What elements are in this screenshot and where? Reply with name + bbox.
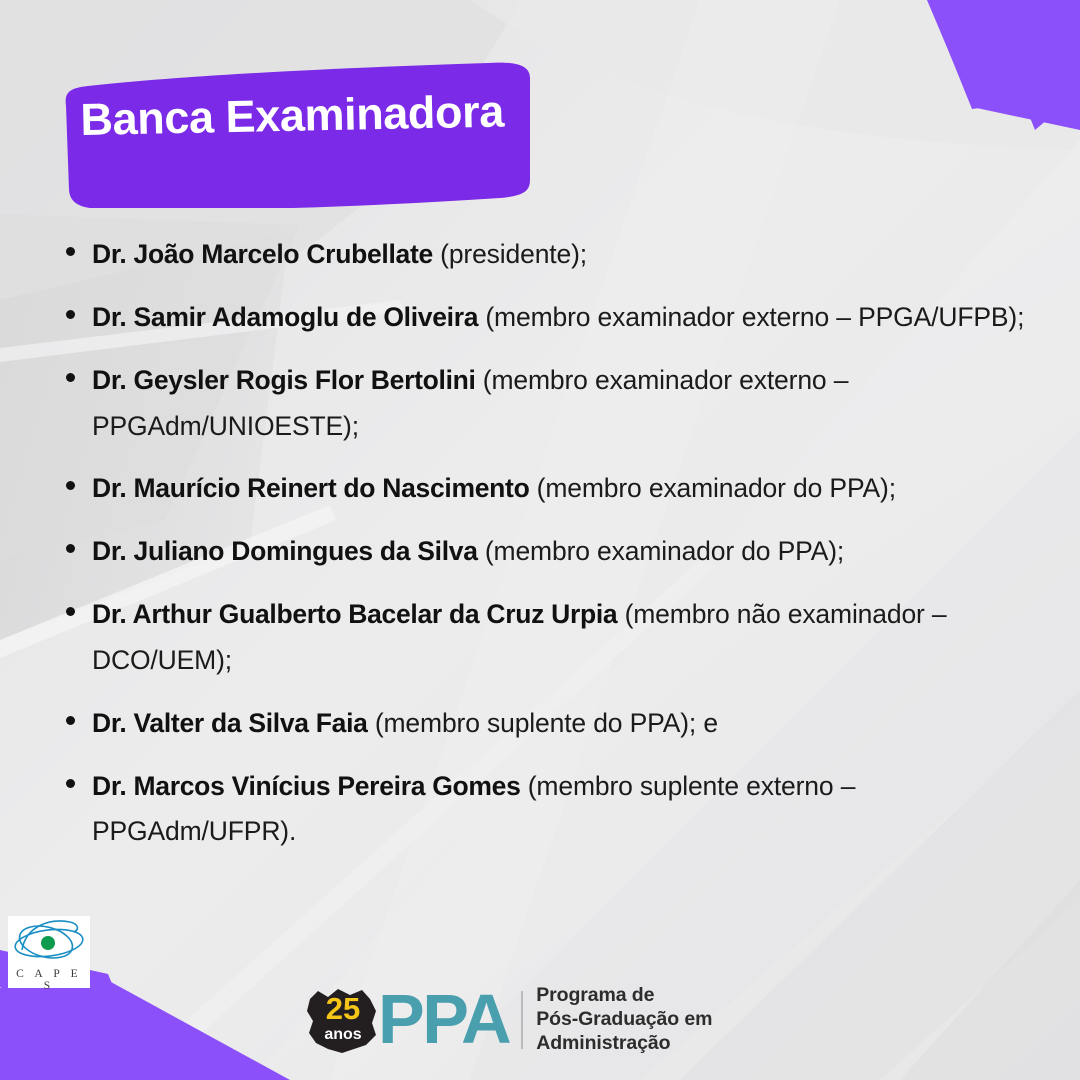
capes-logo: C A P E S [8,916,90,988]
list-item: Dr. Marcos Vinícius Pereira Gomes (membr… [66,764,1046,856]
list-item: Dr. Maurício Reinert do Nascimento (memb… [66,466,1046,512]
member-name: Dr. Marcos Vinícius Pereira Gomes [92,771,521,801]
member-name: Dr. Valter da Silva Faia [92,708,368,738]
list-item: Dr. Juliano Domingues da Silva (membro e… [66,529,1046,575]
bullet-icon [66,607,75,616]
list-item: Dr. Geysler Rogis Flor Bertolini (membro… [66,358,1046,450]
member-role: (membro examinador do PPA); [529,473,895,503]
ppa-subtitle: Programa de Pós-Graduação em Administraç… [536,984,712,1055]
bullet-icon [66,779,75,788]
capes-center-dot [41,936,55,950]
member-role: (membro examinador do PPA); [478,536,844,566]
ppa-subtitle-line-1: Programa de [536,984,712,1008]
list-item: Dr. Valter da Silva Faia (membro suplent… [66,701,1046,747]
member-role: (membro suplente do PPA); e [368,708,718,738]
member-name: Dr. Juliano Domingues da Silva [92,536,478,566]
ppa-logo: 25 anos PPA Programa de Pós-Graduação em… [302,980,712,1060]
member-entry: Dr. Maurício Reinert do Nascimento (memb… [92,466,1046,512]
member-entry: Dr. João Marcelo Crubellate (presidente)… [92,232,1046,278]
ppa-subtitle-line-2: Pós-Graduação em [536,1008,712,1032]
bullet-icon [66,481,75,490]
member-entry: Dr. Marcos Vinícius Pereira Gomes (membr… [92,764,1046,856]
member-entry: Dr. Juliano Domingues da Silva (membro e… [92,529,1046,575]
member-entry: Dr. Geysler Rogis Flor Bertolini (membro… [92,358,1046,450]
member-name: Dr. Samir Adamoglu de Oliveira [92,302,478,332]
svg-text:anos: anos [324,1026,361,1043]
member-role: (presidente); [433,239,587,269]
25-anos-badge-icon: 25 anos [302,983,384,1057]
list-item: Dr. João Marcelo Crubellate (presidente)… [66,232,1046,278]
bullet-icon [66,544,75,553]
bullet-icon [66,247,75,256]
member-entry: Dr. Samir Adamoglu de Oliveira (membro e… [92,295,1046,341]
title-banner: Banca Examinadora [48,62,534,208]
svg-text:25: 25 [326,991,360,1026]
bullet-icon [66,310,75,319]
poster-canvas: Banca Examinadora Dr. João Marcelo Crube… [0,0,1080,1080]
member-entry: Dr. Arthur Gualberto Bacelar da Cruz Urp… [92,592,1046,684]
ppa-divider [521,991,523,1049]
capes-wordmark: C A P E S [8,968,90,992]
member-name: Dr. Arthur Gualberto Bacelar da Cruz Urp… [92,599,617,629]
member-role: (membro examinador externo – PPGA/UFPB); [478,302,1024,332]
member-name: Dr. Maurício Reinert do Nascimento [92,473,529,503]
list-item: Dr. Arthur Gualberto Bacelar da Cruz Urp… [66,592,1046,684]
member-name: Dr. Geysler Rogis Flor Bertolini [92,365,476,395]
member-name: Dr. João Marcelo Crubellate [92,239,433,269]
members-list: Dr. João Marcelo Crubellate (presidente)… [66,232,1046,872]
capes-orbit-icon [8,916,90,972]
list-item: Dr. Samir Adamoglu de Oliveira (membro e… [66,295,1046,341]
bullet-icon [66,716,75,725]
ppa-wordmark: PPA [378,991,509,1047]
page-title: Banca Examinadora [80,87,521,143]
bullet-icon [66,373,75,382]
member-entry: Dr. Valter da Silva Faia (membro suplent… [92,701,1046,747]
ppa-subtitle-line-3: Administração [536,1032,712,1056]
